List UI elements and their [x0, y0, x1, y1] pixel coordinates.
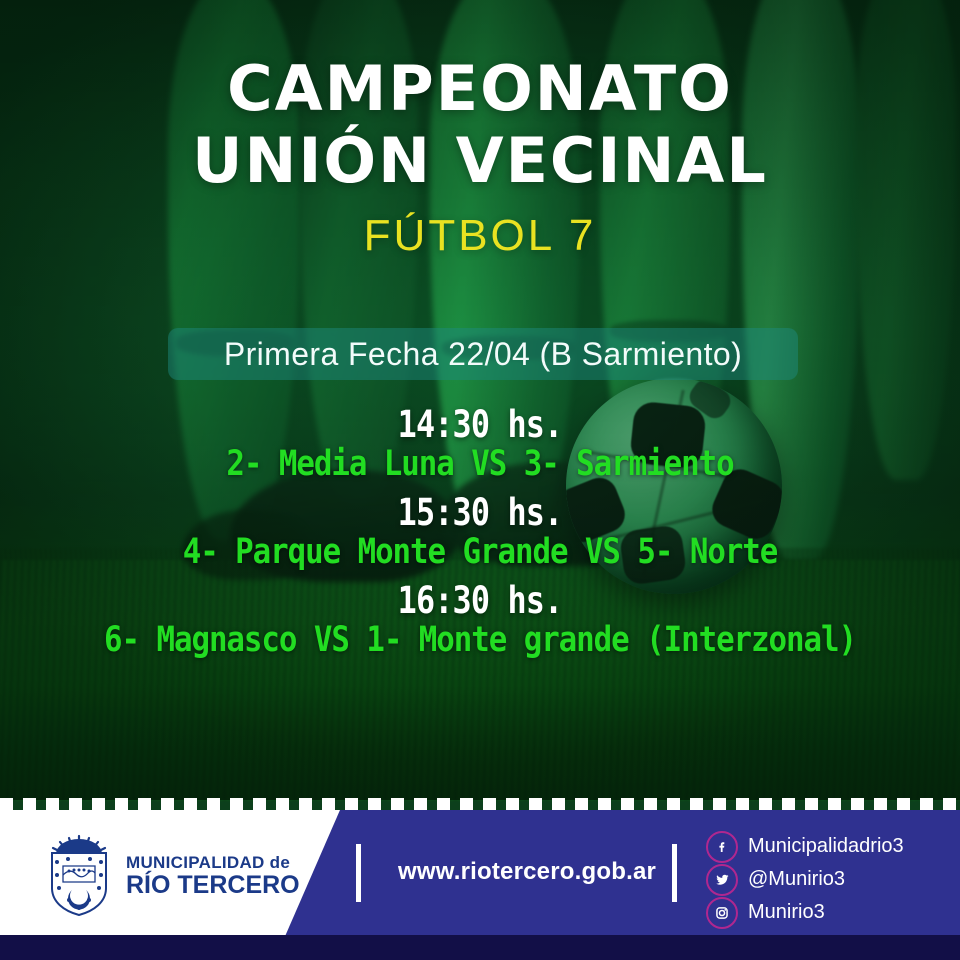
- logo-line-1: MUNICIPALIDAD de: [126, 854, 300, 871]
- match-time: 16:30 hs.: [67, 582, 893, 621]
- logo-line-2: RÍO TERCERO: [126, 873, 300, 898]
- poster-root: CAMPEONATO UNIÓN VECINAL FÚTBOL 7 Primer…: [0, 0, 960, 960]
- footer-bottom-strip: [0, 935, 960, 960]
- match-teams: 4- Parque Monte Grande VS 5- Norte: [58, 533, 903, 572]
- website-url[interactable]: www.riotercero.gob.ar: [398, 858, 656, 886]
- municipality-logo[interactable]: MUNICIPALIDAD de RÍO TERCERO: [42, 834, 300, 918]
- social-label: Municipalidadrio3: [748, 835, 904, 858]
- date-band: Primera Fecha 22/04 (B Sarmiento): [168, 328, 798, 380]
- footer-bar: MUNICIPALIDAD de RÍO TERCERO www.rioterc…: [0, 810, 960, 960]
- instagram-icon: [706, 897, 738, 929]
- social-links: Municipalidadrio3 @Munirio3 Munirio3: [706, 830, 904, 929]
- match-row: 14:30 hs. 2- Media Luna VS 3- Sarmiento: [0, 406, 960, 484]
- twitter-icon: [706, 864, 738, 896]
- match-teams: 2- Media Luna VS 3- Sarmiento: [58, 445, 903, 484]
- page-title-line1: CAMPEONATO: [0, 58, 960, 120]
- perforation-divider: [0, 798, 960, 810]
- social-label: @Munirio3: [748, 868, 845, 891]
- logo-text: MUNICIPALIDAD de RÍO TERCERO: [126, 854, 300, 898]
- divider-right: [672, 844, 677, 902]
- social-link-facebook[interactable]: Municipalidadrio3: [706, 830, 904, 863]
- poster-content: CAMPEONATO UNIÓN VECINAL FÚTBOL 7 Primer…: [0, 0, 960, 800]
- match-row: 16:30 hs. 6- Magnasco VS 1- Monte grande…: [0, 582, 960, 660]
- page-title-line2: UNIÓN VECINAL: [0, 130, 960, 192]
- match-row: 15:30 hs. 4- Parque Monte Grande VS 5- N…: [0, 494, 960, 572]
- social-label: Munirio3: [748, 901, 825, 924]
- facebook-icon: [706, 831, 738, 863]
- coat-of-arms-icon: [42, 834, 116, 918]
- match-time: 14:30 hs.: [67, 406, 893, 445]
- match-schedule: 14:30 hs. 2- Media Luna VS 3- Sarmiento …: [0, 406, 960, 660]
- divider-left: [356, 844, 361, 902]
- match-teams: 6- Magnasco VS 1- Monte grande (Interzon…: [58, 621, 903, 660]
- date-band-label: Primera Fecha 22/04 (B Sarmiento): [224, 336, 742, 373]
- social-link-instagram[interactable]: Munirio3: [706, 896, 904, 929]
- page-subtitle: FÚTBOL 7: [0, 214, 960, 258]
- social-link-twitter[interactable]: @Munirio3: [706, 863, 904, 896]
- match-time: 15:30 hs.: [67, 494, 893, 533]
